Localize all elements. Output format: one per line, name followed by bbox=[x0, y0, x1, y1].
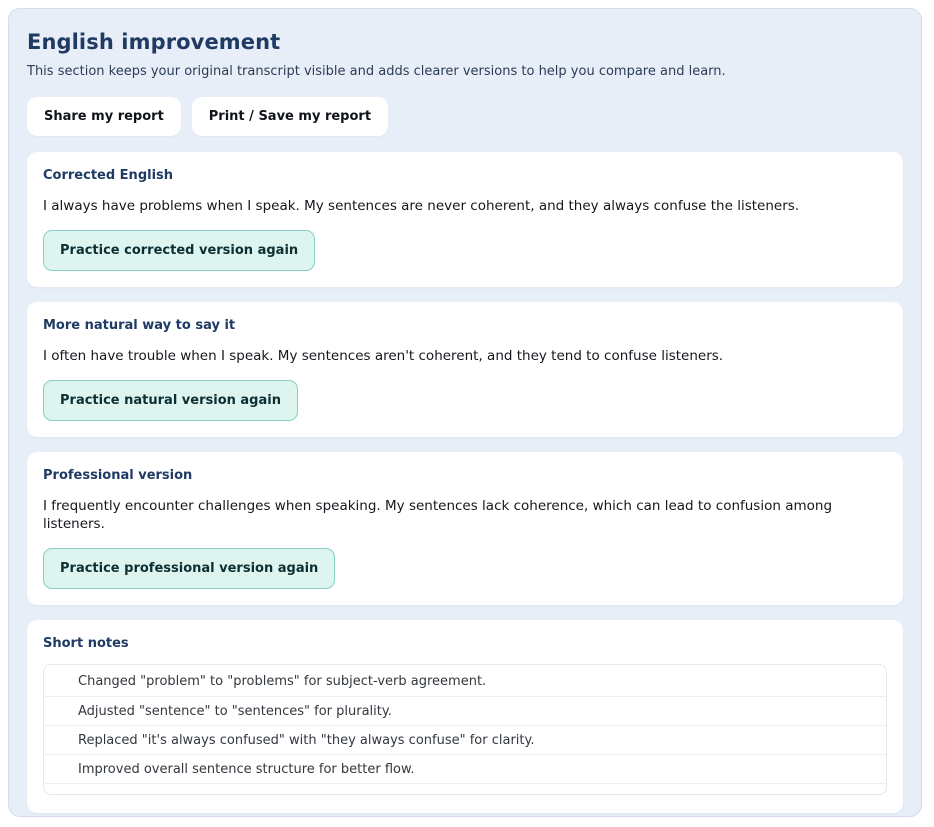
professional-version-card: Professional version I frequently encoun… bbox=[27, 452, 903, 605]
corrected-english-card: Corrected English I always have problems… bbox=[27, 152, 903, 287]
list-item: Adjusted "sentence" to "sentences" for p… bbox=[44, 697, 886, 726]
practice-corrected-version-button[interactable]: Practice corrected version again bbox=[43, 230, 315, 271]
list-item: Improved overall sentence structure for … bbox=[44, 755, 886, 784]
natural-version-card: More natural way to say it I often have … bbox=[27, 302, 903, 437]
corrected-english-text: I always have problems when I speak. My … bbox=[43, 197, 887, 215]
page-subtitle: This section keeps your original transcr… bbox=[27, 63, 903, 80]
natural-version-text: I often have trouble when I speak. My se… bbox=[43, 347, 887, 365]
print-save-report-button[interactable]: Print / Save my report bbox=[192, 97, 388, 136]
page-title: English improvement bbox=[27, 29, 903, 55]
english-improvement-panel: English improvement This section keeps y… bbox=[8, 8, 922, 817]
short-notes-title: Short notes bbox=[43, 635, 887, 652]
natural-version-title: More natural way to say it bbox=[43, 317, 887, 334]
professional-version-text: I frequently encounter challenges when s… bbox=[43, 497, 887, 533]
list-item: Changed "problem" to "problems" for subj… bbox=[44, 665, 886, 697]
short-notes-list: Changed "problem" to "problems" for subj… bbox=[43, 664, 887, 795]
practice-natural-version-button[interactable]: Practice natural version again bbox=[43, 380, 298, 421]
page-root: English improvement This section keeps y… bbox=[0, 0, 934, 827]
share-report-button[interactable]: Share my report bbox=[27, 97, 181, 136]
professional-version-title: Professional version bbox=[43, 467, 887, 484]
short-notes-card: Short notes Changed "problem" to "proble… bbox=[27, 620, 903, 813]
practice-professional-version-button[interactable]: Practice professional version again bbox=[43, 548, 335, 589]
report-actions-toolbar: Share my report Print / Save my report bbox=[27, 97, 903, 136]
list-item: Replaced "it's always confused" with "th… bbox=[44, 726, 886, 755]
corrected-english-title: Corrected English bbox=[43, 167, 887, 184]
notes-list-spacer bbox=[44, 784, 886, 794]
